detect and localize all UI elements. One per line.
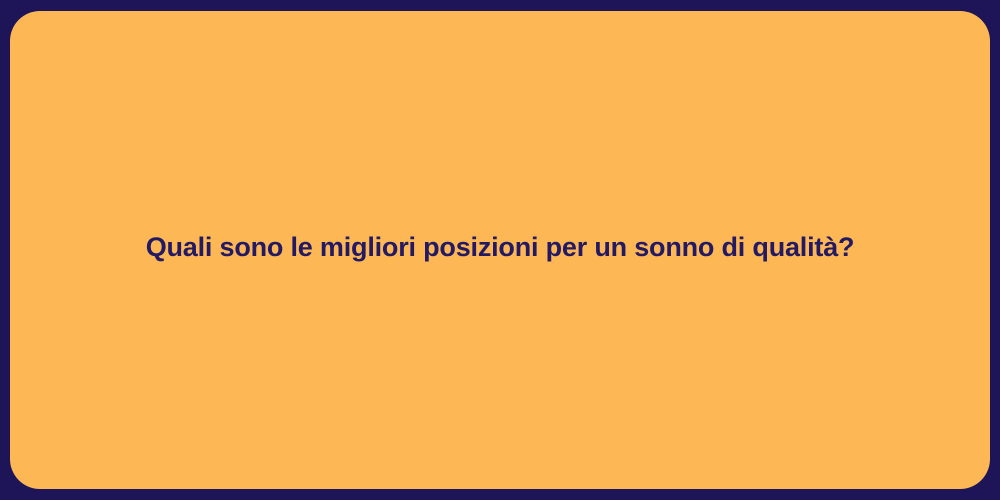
banner-card: Quali sono le migliori posizioni per un … (10, 11, 990, 489)
banner-frame: Quali sono le migliori posizioni per un … (0, 0, 1000, 500)
headline-container: Quali sono le migliori posizioni per un … (10, 230, 990, 266)
banner-headline: Quali sono le migliori posizioni per un … (146, 230, 855, 266)
